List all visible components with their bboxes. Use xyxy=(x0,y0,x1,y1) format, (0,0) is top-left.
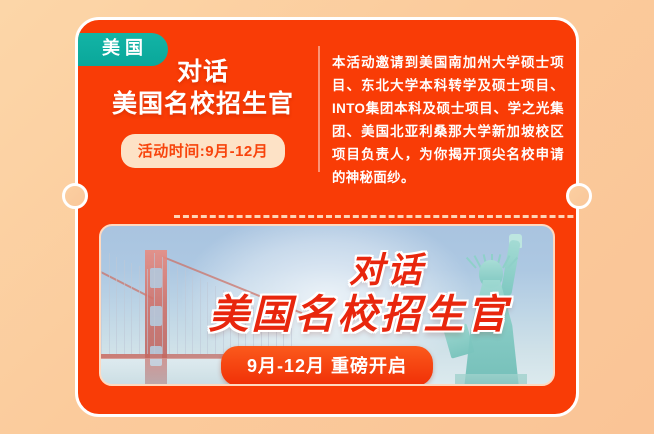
ticket-notch-left xyxy=(62,183,88,209)
event-title: 对话 美国名校招生官 xyxy=(90,56,316,120)
poster-root: 美国 对话 美国名校招生官 活动时间:9月-12月 本活动邀请到美国南加州大学硕… xyxy=(0,0,654,434)
event-ticket-card: 美国 对话 美国名校招生官 活动时间:9月-12月 本活动邀请到美国南加州大学硕… xyxy=(75,17,579,417)
event-time-pill: 活动时间:9月-12月 xyxy=(121,134,286,168)
event-title-line1: 对话 xyxy=(90,56,316,88)
title-column: 对话 美国名校招生官 活动时间:9月-12月 xyxy=(90,56,316,168)
banner-cta-pill[interactable]: 9月-12月 重磅开启 xyxy=(221,346,433,386)
banner-headline: 对话 美国名校招生官 9月-12月 重磅开启 xyxy=(101,226,553,384)
banner-headline-line2: 美国名校招生官 xyxy=(101,282,555,340)
ticket-top-section: 美国 对话 美国名校招生官 活动时间:9月-12月 本活动邀请到美国南加州大学硕… xyxy=(78,20,576,199)
event-description: 本活动邀请到美国南加州大学硕士项目、东北大学本科转学及硕士项目、INTO集团本科… xyxy=(332,51,564,189)
event-banner-image[interactable]: 对话 美国名校招生官 9月-12月 重磅开启 xyxy=(99,224,555,386)
event-title-line2: 美国名校招生官 xyxy=(90,88,316,120)
column-divider xyxy=(318,46,320,172)
ticket-notch-right xyxy=(566,183,592,209)
ticket-perforation-line xyxy=(174,215,579,218)
